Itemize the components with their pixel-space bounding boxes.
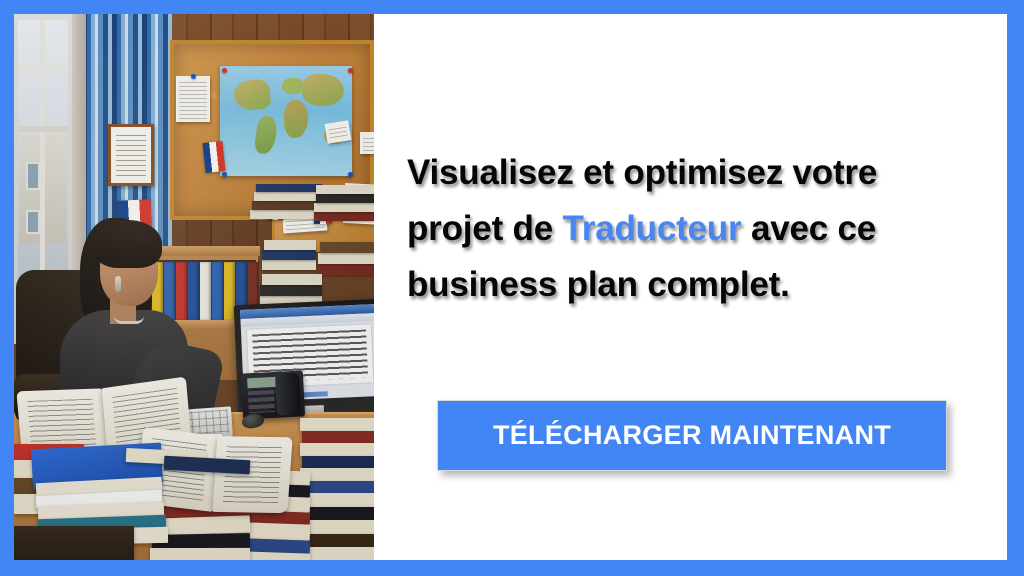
book bbox=[256, 184, 322, 192]
book bbox=[300, 534, 374, 547]
outside-window-upper bbox=[26, 162, 40, 190]
book bbox=[318, 264, 374, 275]
download-now-button[interactable]: TÉLÉCHARGER MAINTENANT bbox=[437, 400, 947, 471]
book bbox=[318, 253, 374, 264]
pushpin-icon bbox=[222, 172, 227, 177]
pushpin-icon bbox=[222, 68, 227, 73]
book bbox=[302, 481, 374, 493]
framed-certificate bbox=[108, 124, 154, 186]
book bbox=[254, 192, 322, 201]
book bbox=[262, 274, 322, 285]
ring-binder bbox=[212, 262, 223, 320]
book bbox=[150, 548, 250, 560]
hero-photo bbox=[14, 14, 374, 560]
map-north-america bbox=[232, 78, 272, 113]
ad-banner: Visualisez et optimisez votre projet de … bbox=[0, 0, 1024, 576]
phone-keypad bbox=[248, 390, 275, 413]
book-page-right bbox=[212, 436, 292, 513]
banner-inner: Visualisez et optimisez votre projet de … bbox=[14, 14, 1007, 560]
page-title: Visualisez et optimisez votre projet de … bbox=[407, 145, 937, 313]
book bbox=[316, 194, 374, 203]
ring-binder bbox=[188, 262, 199, 320]
download-now-button-label: TÉLÉCHARGER MAINTENANT bbox=[493, 420, 891, 451]
book bbox=[302, 456, 374, 468]
map-south-america bbox=[253, 115, 278, 155]
outside-window-lower bbox=[26, 210, 40, 234]
book bbox=[316, 185, 374, 194]
pushpin-icon bbox=[348, 172, 353, 177]
necklace bbox=[114, 316, 144, 324]
book bbox=[314, 212, 374, 221]
phone-display bbox=[247, 377, 277, 389]
pinned-note bbox=[325, 120, 352, 144]
book bbox=[320, 242, 374, 253]
hair-top bbox=[94, 220, 162, 268]
book bbox=[262, 250, 316, 260]
map-europe bbox=[282, 78, 304, 94]
french-flag bbox=[202, 141, 225, 173]
desk-phone bbox=[241, 370, 305, 419]
book bbox=[260, 285, 322, 296]
window-mullion-horizontal-2 bbox=[18, 126, 68, 132]
book bbox=[250, 210, 322, 219]
pushpin-icon bbox=[348, 68, 353, 73]
book bbox=[300, 418, 374, 431]
book bbox=[314, 203, 374, 212]
ring-binder bbox=[176, 262, 187, 320]
pinned-note bbox=[360, 132, 374, 154]
chair-base bbox=[14, 526, 134, 560]
window-mullion-horizontal-1 bbox=[18, 66, 68, 72]
book bbox=[302, 431, 374, 443]
headline-keyword: Traducteur bbox=[563, 209, 742, 248]
book bbox=[300, 468, 374, 481]
ring-binder bbox=[164, 262, 175, 320]
pinned-note bbox=[176, 76, 210, 122]
world-map-poster bbox=[220, 66, 352, 176]
book bbox=[262, 260, 316, 270]
ring-binder bbox=[200, 262, 211, 320]
pushpin-icon bbox=[191, 74, 196, 79]
book bbox=[264, 240, 316, 250]
book bbox=[300, 443, 374, 456]
map-africa bbox=[284, 100, 308, 138]
content-pane: Visualisez et optimisez votre projet de … bbox=[374, 14, 1007, 560]
phone-handset bbox=[275, 373, 301, 416]
book bbox=[300, 507, 374, 520]
earring bbox=[115, 276, 121, 292]
map-asia bbox=[302, 74, 344, 106]
book bbox=[252, 201, 322, 210]
